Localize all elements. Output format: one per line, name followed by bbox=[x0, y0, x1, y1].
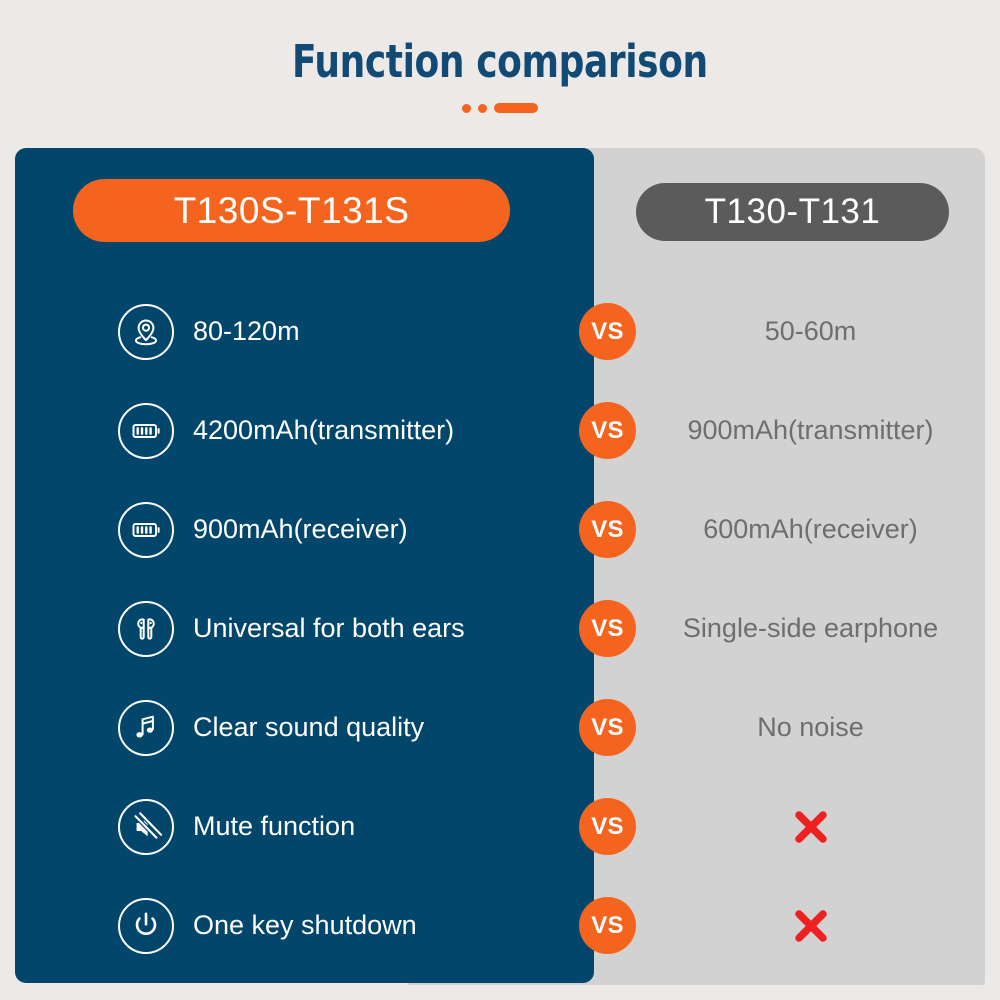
left-feature-label: 900mAh(receiver) bbox=[193, 514, 408, 545]
cross-icon bbox=[788, 804, 834, 850]
comparison-row: 900mAh(receiver)VS600mAh(receiver) bbox=[15, 480, 985, 579]
left-feature-label: One key shutdown bbox=[193, 910, 417, 941]
mute-speaker-icon bbox=[118, 799, 174, 855]
right-product-pill[interactable]: T130-T131 bbox=[636, 183, 949, 241]
divider-dot-icon bbox=[478, 104, 487, 113]
vs-badge: VS bbox=[579, 303, 636, 360]
cross-icon bbox=[788, 903, 834, 949]
row-right-cell bbox=[636, 777, 985, 876]
right-feature-label: 50-60m bbox=[765, 316, 857, 347]
comparison-row: One key shutdownVS bbox=[15, 876, 985, 975]
row-left-cell: One key shutdown bbox=[15, 876, 594, 975]
vs-badge: VS bbox=[579, 402, 636, 459]
row-left-cell: 4200mAh(transmitter) bbox=[15, 381, 594, 480]
row-right-cell: No noise bbox=[636, 678, 985, 777]
vs-badge: VS bbox=[579, 501, 636, 558]
left-feature-label: 80-120m bbox=[193, 316, 300, 347]
right-feature-label: Single-side earphone bbox=[683, 613, 938, 644]
vs-badge: VS bbox=[579, 699, 636, 756]
comparison-row: Universal for both earsVSSingle-side ear… bbox=[15, 579, 985, 678]
vs-badge: VS bbox=[579, 798, 636, 855]
row-right-cell: Single-side earphone bbox=[636, 579, 985, 678]
vs-badge: VS bbox=[579, 897, 636, 954]
location-pin-icon bbox=[118, 304, 174, 360]
battery-icon bbox=[118, 502, 174, 558]
power-button-icon bbox=[118, 898, 174, 954]
row-left-cell: Mute function bbox=[15, 777, 594, 876]
comparison-rows: 80-120mVS50-60m 4200mAh(transmitter)VS90… bbox=[15, 282, 985, 985]
comparison-row: 80-120mVS50-60m bbox=[15, 282, 985, 381]
music-note-icon bbox=[118, 700, 174, 756]
row-left-cell: Universal for both ears bbox=[15, 579, 594, 678]
comparison-row: Clear sound qualityVSNo noise bbox=[15, 678, 985, 777]
left-feature-label: Clear sound quality bbox=[193, 712, 424, 743]
left-feature-label: 4200mAh(transmitter) bbox=[193, 415, 454, 446]
divider-bar-icon bbox=[494, 103, 538, 113]
comparison-board: T130S-T131S T130-T131 80-120mVS50-60m 42… bbox=[15, 148, 985, 985]
row-left-cell: Clear sound quality bbox=[15, 678, 594, 777]
row-right-cell: 900mAh(transmitter) bbox=[636, 381, 985, 480]
vs-badge: VS bbox=[579, 600, 636, 657]
comparison-row: Mute functionVS bbox=[15, 777, 985, 876]
battery-icon bbox=[118, 403, 174, 459]
row-right-cell bbox=[636, 876, 985, 975]
row-right-cell: 600mAh(receiver) bbox=[636, 480, 985, 579]
left-feature-label: Universal for both ears bbox=[193, 613, 465, 644]
earbuds-icon bbox=[118, 601, 174, 657]
right-feature-label: 900mAh(transmitter) bbox=[687, 415, 933, 446]
page-header: Function comparison bbox=[0, 0, 1000, 148]
right-feature-label: No noise bbox=[757, 712, 864, 743]
row-left-cell: 900mAh(receiver) bbox=[15, 480, 594, 579]
divider-dot-icon bbox=[462, 104, 471, 113]
right-feature-label: 600mAh(receiver) bbox=[703, 514, 918, 545]
comparison-row: 4200mAh(transmitter)VS900mAh(transmitter… bbox=[15, 381, 985, 480]
title-divider bbox=[462, 103, 538, 113]
row-right-cell: 50-60m bbox=[636, 282, 985, 381]
left-feature-label: Mute function bbox=[193, 811, 355, 842]
left-product-pill[interactable]: T130S-T131S bbox=[73, 179, 510, 242]
row-left-cell: 80-120m bbox=[15, 282, 594, 381]
page-title: Function comparison bbox=[292, 38, 708, 85]
